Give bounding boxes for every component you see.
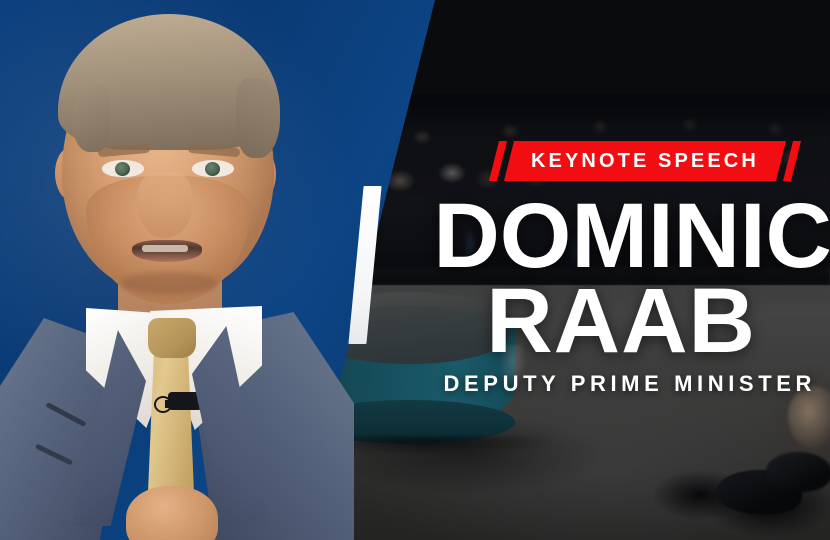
foreground-shoe-right (766, 452, 830, 492)
speaker-last-name: RAAB (0, 279, 756, 364)
keynote-badge: KEYNOTE SPEECH (494, 141, 796, 181)
eye-right (192, 160, 234, 177)
eye-left (102, 160, 144, 177)
speaker-first-name: DOMINIC (0, 194, 830, 279)
hair-temple-right (236, 78, 280, 158)
hand (126, 486, 218, 540)
speaker-name: DOMINIC RAAB (0, 194, 830, 363)
keynote-badge-bar: KEYNOTE SPEECH (504, 141, 786, 181)
speaker-role-subtitle: DEPUTY PRIME MINISTER (0, 371, 830, 397)
keynote-badge-label: KEYNOTE SPEECH (531, 151, 759, 171)
event-promo-banner: KEYNOTE SPEECH DOMINIC RAAB DEPUTY PRIME… (0, 0, 830, 540)
